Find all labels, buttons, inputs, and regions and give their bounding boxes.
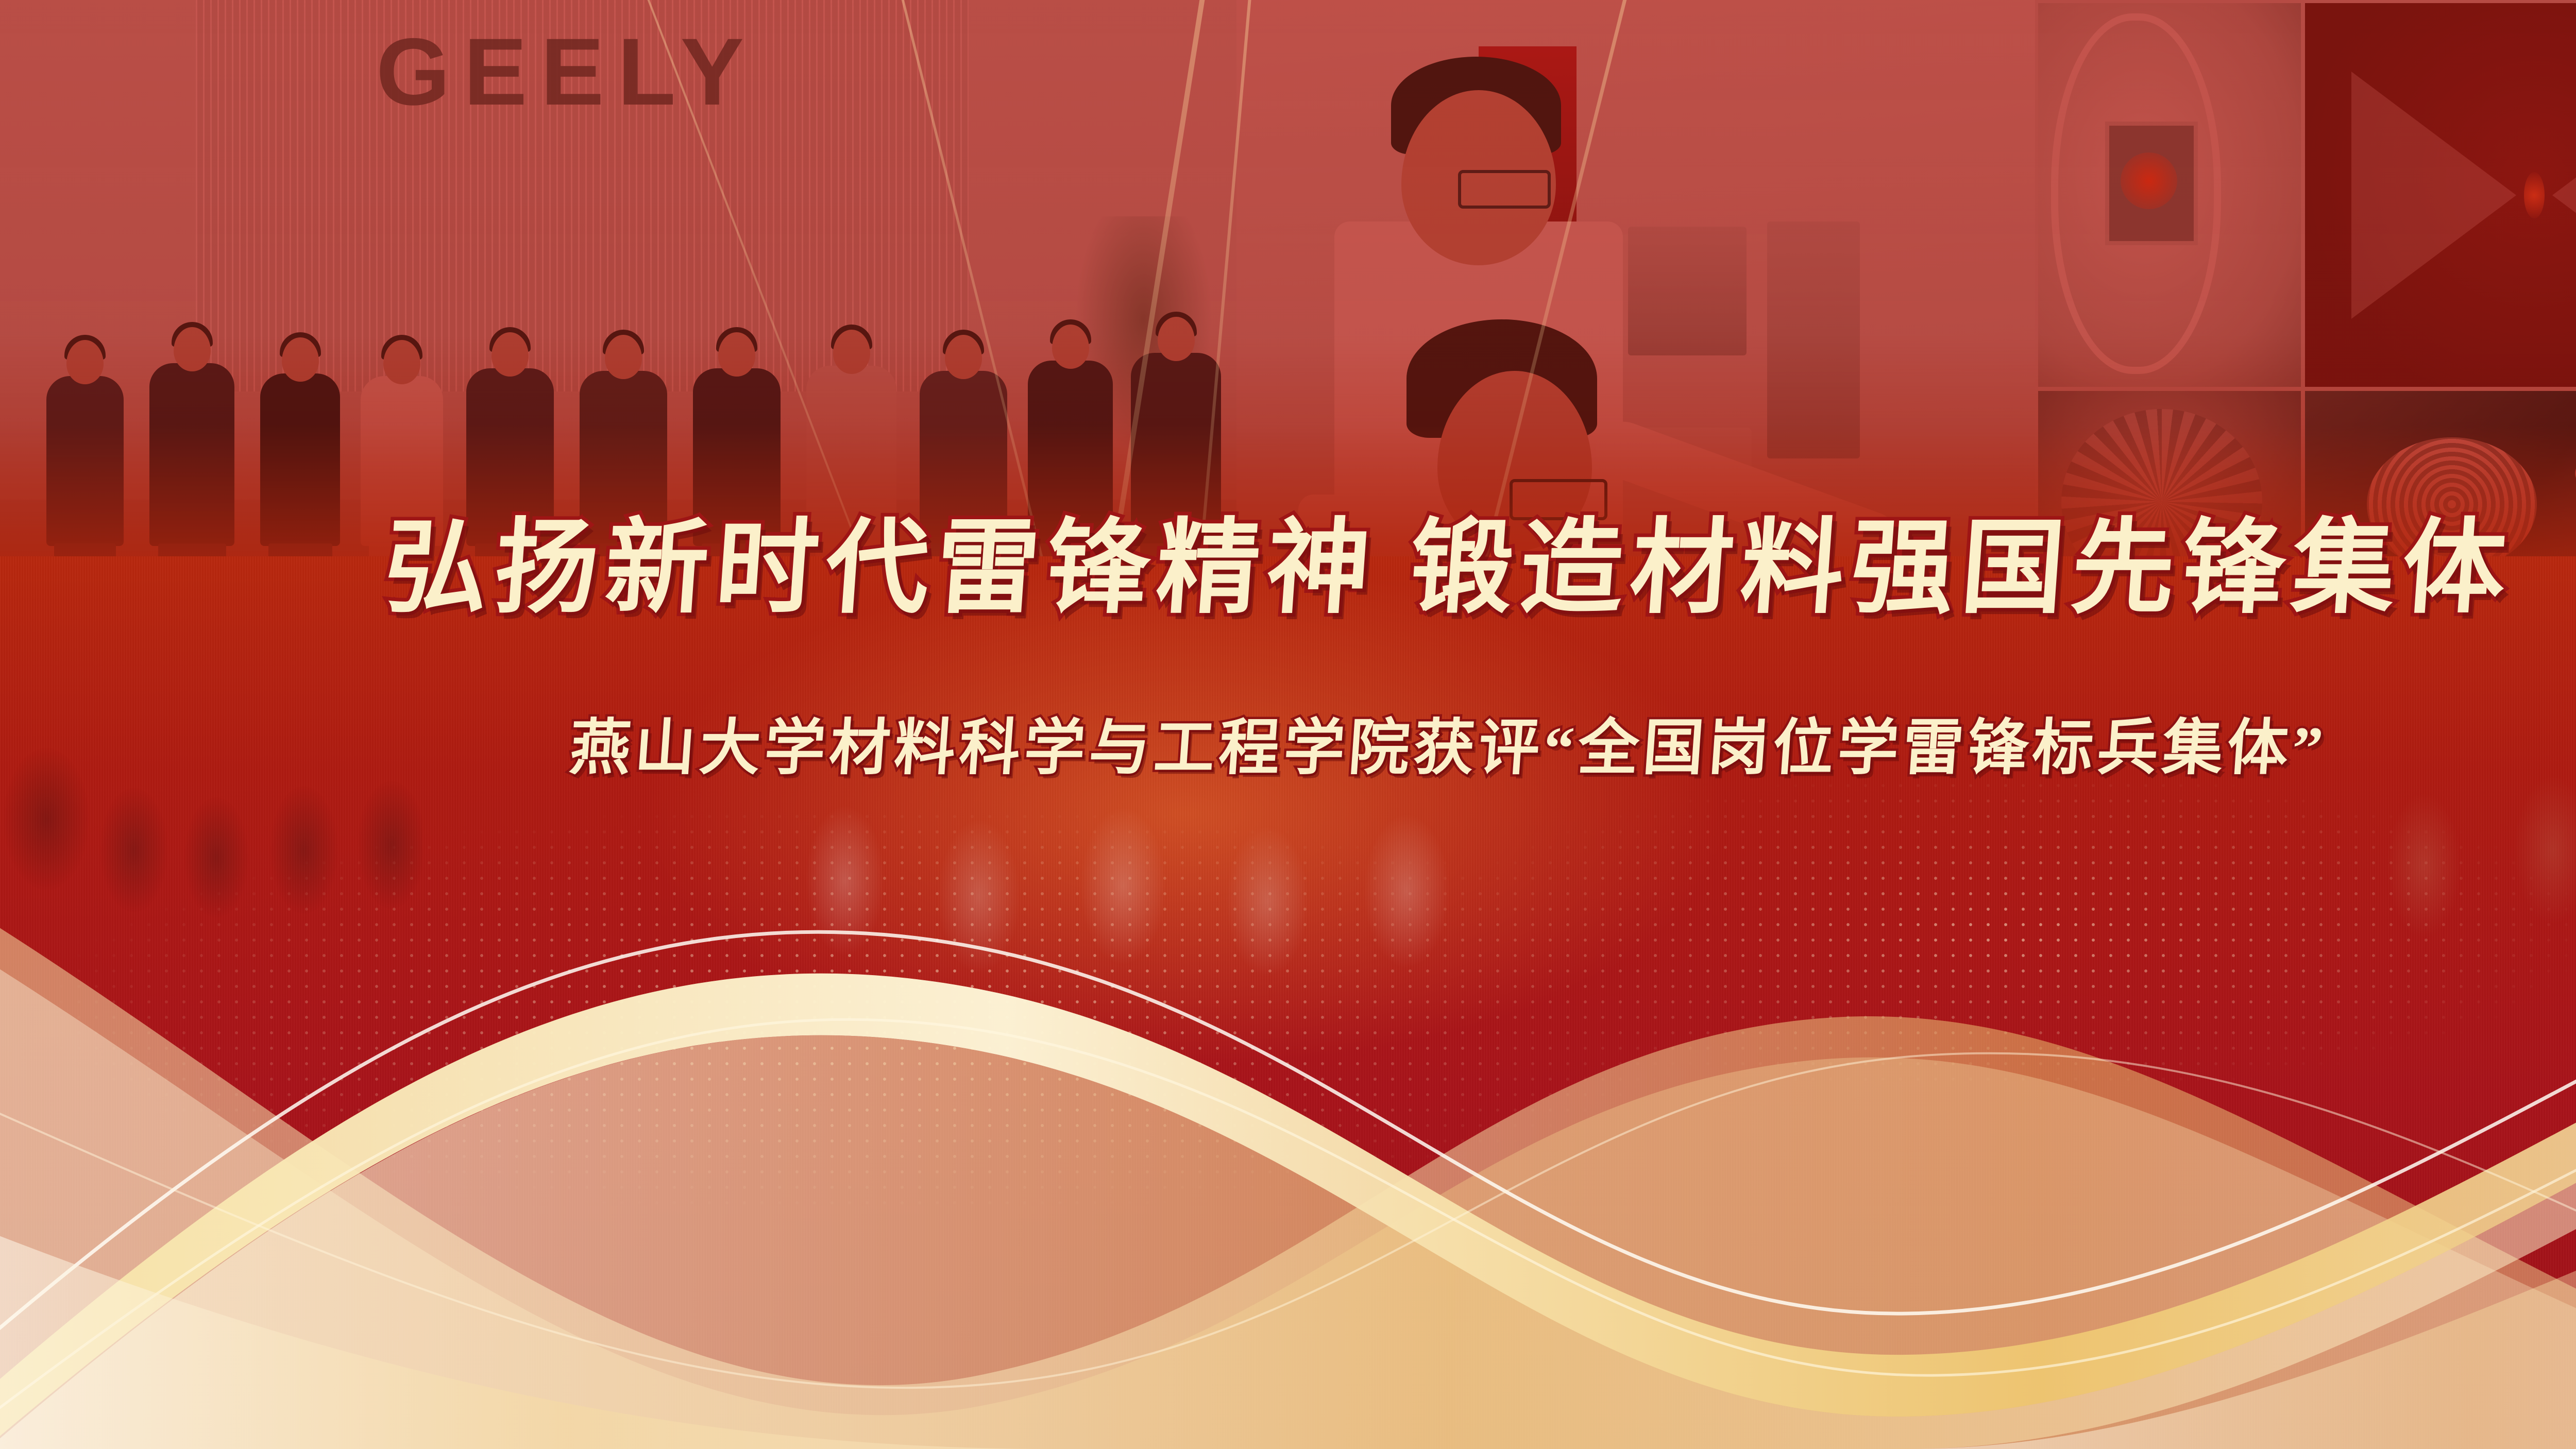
gold-ribbon-wave <box>0 834 2576 1449</box>
main-title-container: 弘扬新时代雷锋精神 锻造材料强国先锋集体 <box>0 515 2576 623</box>
subtitle: 燕山大学材料科学与工程学院获评“全国岗位学雷锋标兵集体” <box>568 698 2331 786</box>
main-title: 弘扬新时代雷锋精神 锻造材料强国先锋集体 <box>381 515 2517 623</box>
banner-poster: GEELY <box>0 0 2576 1449</box>
subtitle-container: 燕山大学材料科学与工程学院获评“全国岗位学雷锋标兵集体” <box>0 698 2576 786</box>
